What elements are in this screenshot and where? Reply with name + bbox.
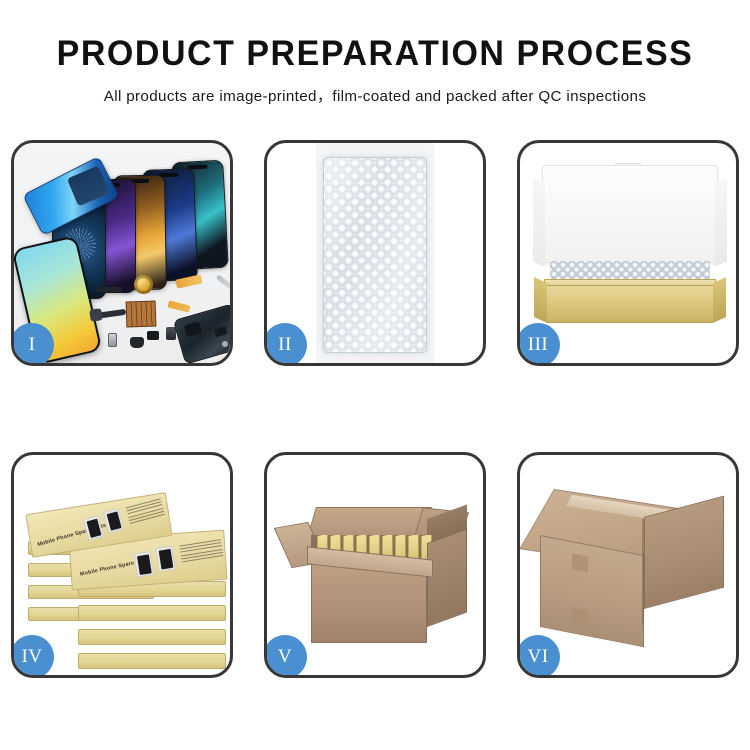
- back-housing-icon: [173, 303, 230, 363]
- charging-port-icon: [108, 333, 117, 347]
- step-badge-2: II: [264, 323, 307, 366]
- carton-right-face: [644, 496, 724, 609]
- screwdriver-icon: [216, 274, 230, 296]
- step-panel-6: VI: [517, 452, 739, 678]
- loudspeaker-module-icon: [130, 337, 144, 348]
- step-panel-3: III: [517, 140, 739, 366]
- box-edge: [78, 629, 226, 645]
- antenna-cable-icon: [94, 309, 127, 319]
- step-badge-1: I: [11, 323, 54, 366]
- kraft-box-icon: [544, 285, 716, 323]
- box-screen-image: [134, 551, 155, 577]
- box-screen-image: [83, 515, 104, 540]
- ic-chip-icon: [147, 331, 159, 340]
- carton-handle-cut: [572, 553, 588, 572]
- box-spec-lines: [126, 498, 166, 526]
- carton-corner-seam: [642, 519, 644, 625]
- box-edge: [78, 653, 226, 669]
- box-edge: [78, 605, 226, 621]
- step-badge-3: III: [517, 323, 560, 366]
- box-stack: Mobile Phone Spare Parts Mobile Phone Sp…: [20, 477, 230, 667]
- carton-left-face: [540, 535, 644, 647]
- sealed-carton-icon: [538, 489, 728, 641]
- camera-ring-icon: [134, 275, 153, 294]
- box-spec-lines: [179, 539, 223, 564]
- step-badge-6: VI: [517, 635, 560, 678]
- step-badge-5: V: [264, 635, 307, 678]
- step-panel-5: V: [264, 452, 486, 678]
- header: PRODUCT PREPARATION PROCESS All products…: [0, 0, 750, 106]
- earpiece-speaker-icon: [96, 287, 122, 292]
- open-shipping-carton-icon: [293, 501, 469, 645]
- flex-cable-b-icon: [167, 300, 190, 312]
- step-panel-4: Mobile Phone Spare Parts Mobile Phone Sp…: [11, 452, 233, 678]
- carton-handle-cut: [572, 607, 588, 624]
- box-screen-image: [103, 508, 124, 533]
- page-title: PRODUCT PREPARATION PROCESS: [11, 36, 739, 73]
- flex-cable-a-icon: [175, 274, 202, 288]
- spare-parts-group: [92, 267, 230, 359]
- page-subtitle: All products are image-printed，film-coat…: [0, 84, 750, 106]
- step-panel-1: I: [11, 140, 233, 366]
- process-steps-grid: I II III: [11, 140, 739, 683]
- box-screen-image: [155, 546, 176, 572]
- product-preparation-infographic: PRODUCT PREPARATION PROCESS All products…: [0, 0, 750, 750]
- bubble-wrap-icon: [323, 157, 427, 353]
- step-panel-2: II: [264, 140, 486, 366]
- carton-side-panel: [427, 528, 467, 627]
- screw-icon: [222, 341, 228, 347]
- copper-mesh-pad-icon: [126, 300, 157, 327]
- step-badge-4: IV: [11, 635, 54, 678]
- open-lid-icon: [542, 165, 718, 263]
